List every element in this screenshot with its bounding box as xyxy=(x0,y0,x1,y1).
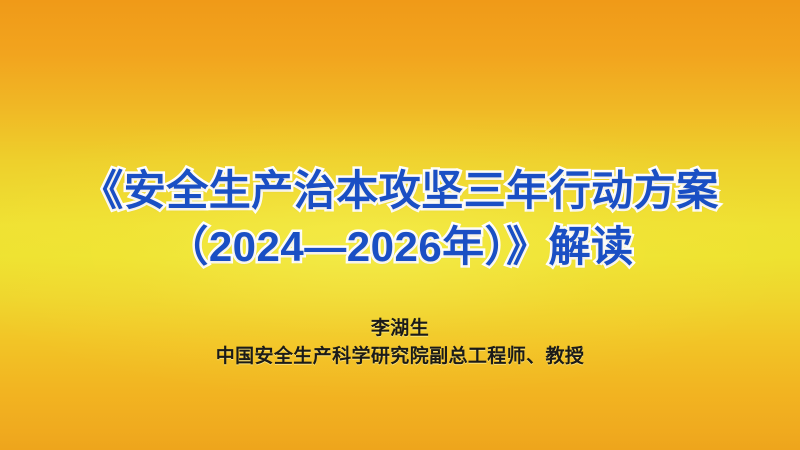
page-title: 《安全生产治本攻坚三年行动方案 （2024—2026年）》解读 xyxy=(0,166,800,273)
title-line-1: 《安全生产治本攻坚三年行动方案 xyxy=(0,166,800,216)
presenter-affiliation: 中国安全生产科学研究院副总工程师、教授 xyxy=(0,343,800,371)
slide-content: 《安全生产治本攻坚三年行动方案 （2024—2026年）》解读 李湖生 中国安全… xyxy=(0,0,800,450)
title-slide: 《安全生产治本攻坚三年行动方案 （2024—2026年）》解读 李湖生 中国安全… xyxy=(0,0,800,450)
presenter-info: 李湖生 中国安全生产科学研究院副总工程师、教授 xyxy=(0,315,800,370)
title-line-2: （2024—2026年）》解读 xyxy=(0,222,800,272)
presenter-name: 李湖生 xyxy=(0,315,800,343)
